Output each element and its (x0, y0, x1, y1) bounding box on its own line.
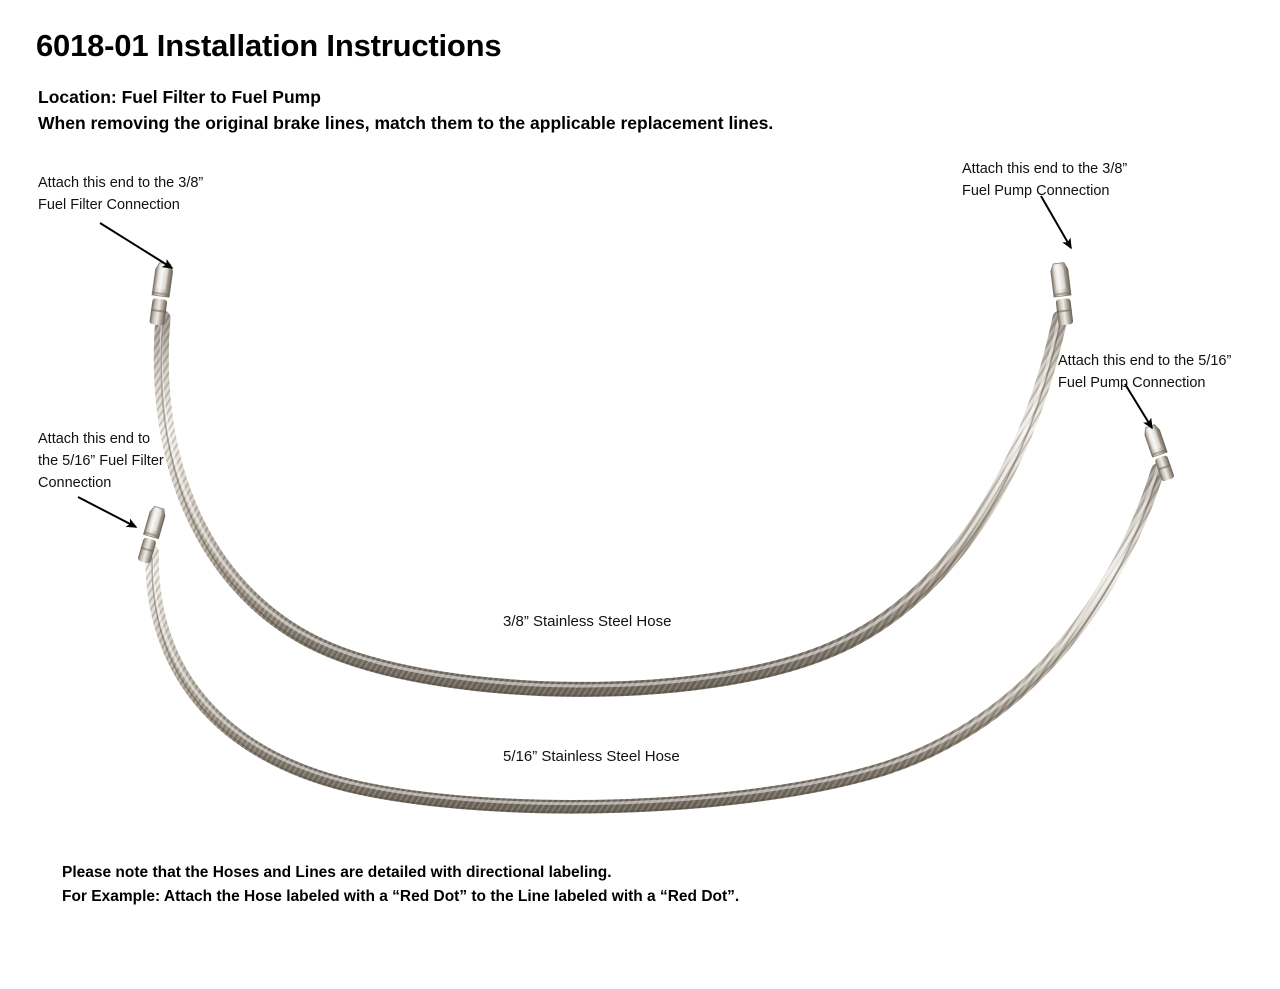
footer-note-line2: For Example: Attach the Hose labeled wit… (62, 888, 739, 906)
callout-3-8-fuel-pump: Attach this end to the 3/8” Fuel Pump Co… (962, 158, 1127, 202)
hose-3-8-body (161, 315, 1060, 696)
hose-label-3-8: 3/8” Stainless Steel Hose (503, 613, 671, 630)
arrow-top-left (100, 223, 172, 268)
callout-3-8-fuel-filter: Attach this end to the 3/8” Fuel Filter … (38, 172, 203, 216)
installation-instructions-page: 6018-01 Installation Instructions Locati… (0, 0, 1280, 989)
fitting-3-8-fuel-pump (1050, 262, 1075, 326)
page-title: 6018-01 Installation Instructions (36, 28, 501, 64)
callout-5-16-fuel-pump: Attach this end to the 5/16” Fuel Pump C… (1058, 350, 1231, 394)
subheading-instruction: When removing the original brake lines, … (38, 113, 773, 134)
arrow-middle-left (78, 497, 136, 527)
fitting-3-8-fuel-filter (148, 262, 174, 326)
footer-note-line1: Please note that the Hoses and Lines are… (62, 864, 612, 882)
hose-3-8 (148, 262, 1075, 695)
fitting-5-16-fuel-filter (136, 506, 167, 565)
hose-diagram (0, 0, 1280, 989)
arrow-top-right (1041, 196, 1071, 248)
fitting-5-16-fuel-pump (1143, 424, 1176, 483)
callout-5-16-fuel-filter: Attach this end to the 5/16” Fuel Filter… (38, 428, 164, 494)
subheading-location: Location: Fuel Filter to Fuel Pump (38, 87, 321, 108)
hose-label-5-16: 5/16” Stainless Steel Hose (503, 748, 680, 765)
